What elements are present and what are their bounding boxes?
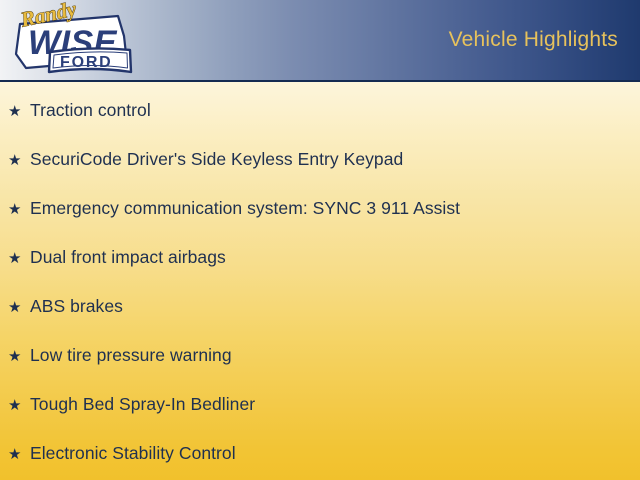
list-item-label: Tough Bed Spray-In Bedliner <box>30 394 640 415</box>
star-icon: ★ <box>8 348 30 364</box>
star-icon: ★ <box>8 152 30 168</box>
list-item-label: Dual front impact airbags <box>30 247 640 268</box>
list-item: ★ Electronic Stability Control <box>0 429 640 478</box>
logo-ford-text: FORD <box>60 54 113 71</box>
list-item-label: Electronic Stability Control <box>30 443 640 464</box>
list-item: ★ Emergency communication system: SYNC 3… <box>0 184 640 233</box>
list-item-label: SecuriCode Driver's Side Keyless Entry K… <box>30 149 640 170</box>
randy-wise-ford-logo-graphic: WISE FORD Randy <box>6 2 136 84</box>
star-icon: ★ <box>8 250 30 266</box>
list-item-label: Traction control <box>30 100 640 121</box>
vehicle-highlights-list: ★ Traction control ★ SecuriCode Driver's… <box>0 86 640 478</box>
star-icon: ★ <box>8 299 30 315</box>
dealer-logo: WISE FORD Randy <box>6 2 136 84</box>
star-icon: ★ <box>8 103 30 119</box>
star-icon: ★ <box>8 397 30 413</box>
list-item: ★ SecuriCode Driver's Side Keyless Entry… <box>0 135 640 184</box>
list-item: ★ Low tire pressure warning <box>0 331 640 380</box>
list-item-label: ABS brakes <box>30 296 640 317</box>
list-item: ★ Tough Bed Spray-In Bedliner <box>0 380 640 429</box>
list-item: ★ ABS brakes <box>0 282 640 331</box>
list-item: ★ Dual front impact airbags <box>0 233 640 282</box>
list-item: ★ Traction control <box>0 86 640 135</box>
list-item-label: Low tire pressure warning <box>30 345 640 366</box>
star-icon: ★ <box>8 446 30 462</box>
page-title: Vehicle Highlights <box>449 28 618 52</box>
star-icon: ★ <box>8 201 30 217</box>
header-bar: WISE FORD Randy Vehicle Highlights <box>0 0 640 82</box>
vehicle-highlights-slide: WISE FORD Randy Vehicle Highlights ★ Tra… <box>0 0 640 480</box>
list-item-label: Emergency communication system: SYNC 3 9… <box>30 198 640 219</box>
